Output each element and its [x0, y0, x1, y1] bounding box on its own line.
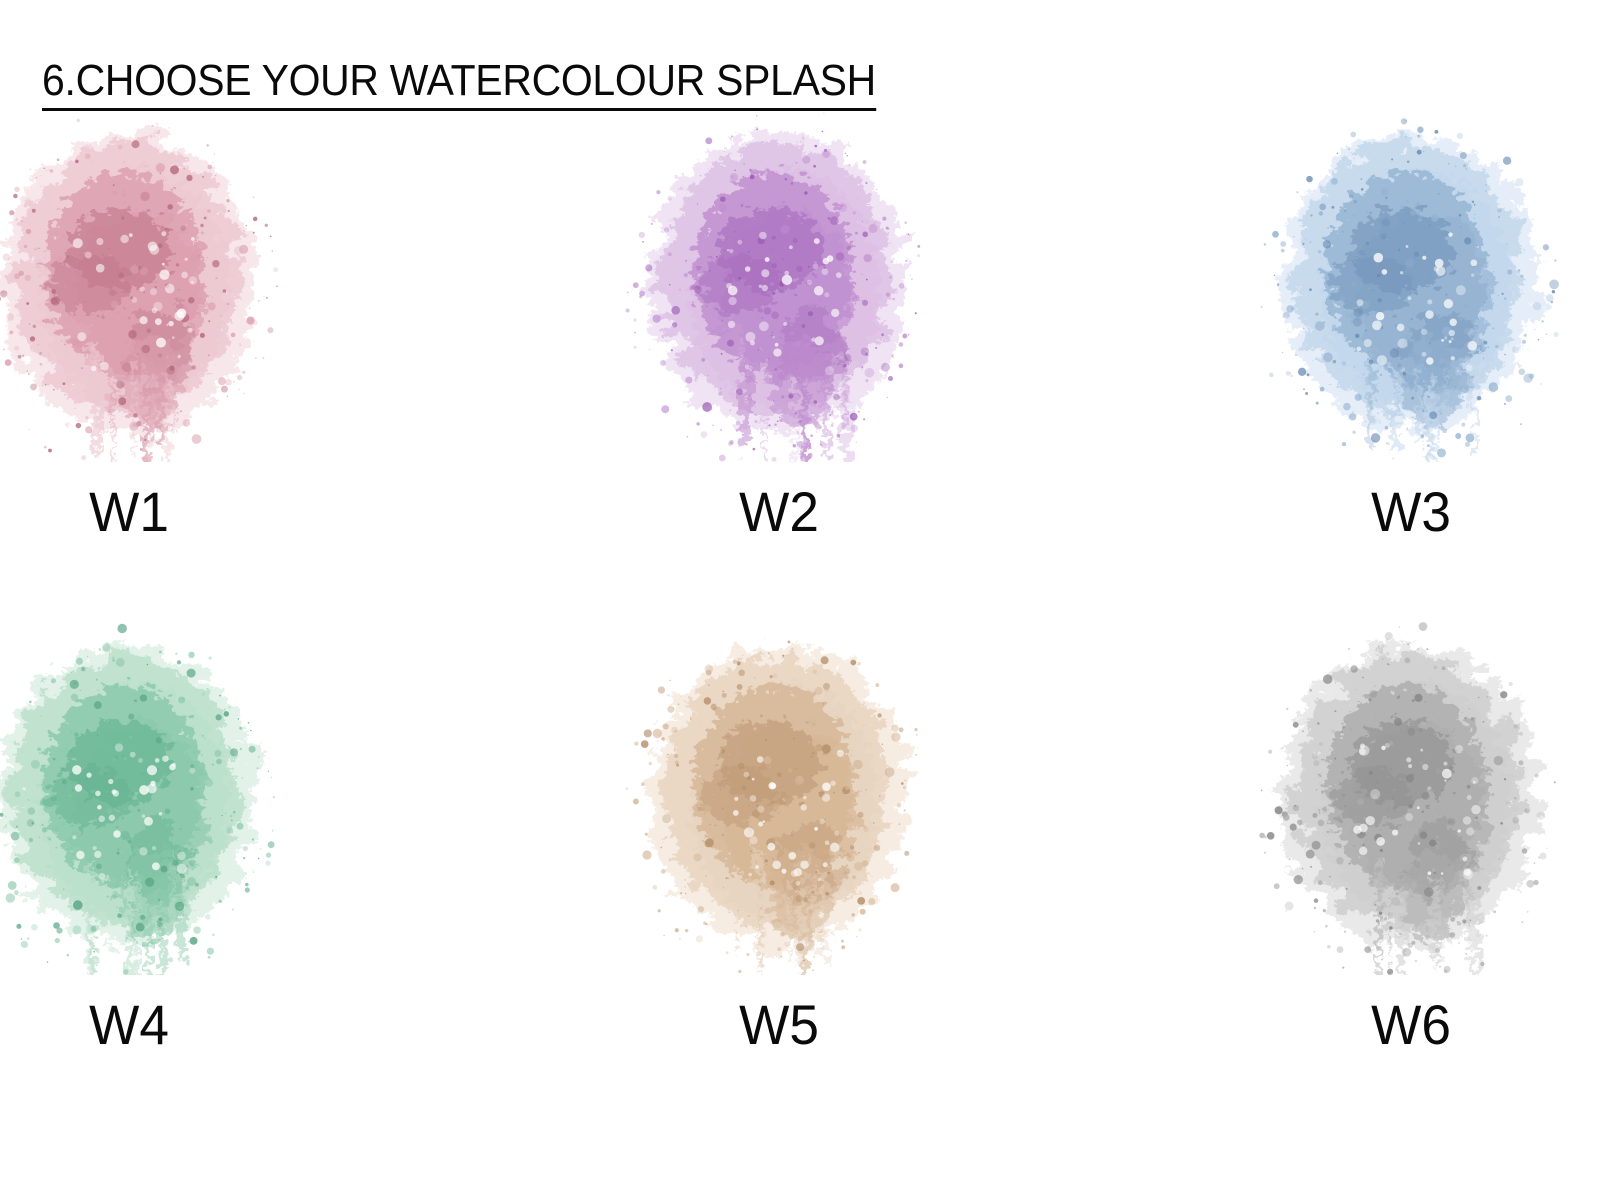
watercolour-splash-w1[interactable]	[0, 102, 294, 462]
watercolour-swatch-grid: W1 W2 W3 W4 W5 W6	[0, 96, 1600, 1106]
swatch-label-w3: W3	[1371, 484, 1451, 540]
swatch-option-w3[interactable]: W3	[1067, 96, 1600, 601]
swatch-label-w1: W1	[89, 484, 169, 540]
watercolour-splash-w4[interactable]	[0, 615, 294, 975]
swatch-option-w1[interactable]: W1	[0, 96, 533, 601]
swatch-option-w6[interactable]: W6	[1067, 601, 1600, 1106]
watercolour-splash-w6[interactable]	[1246, 615, 1576, 975]
swatch-label-w2: W2	[739, 484, 819, 540]
swatch-label-w4: W4	[89, 997, 169, 1053]
swatch-option-w4[interactable]: W4	[0, 601, 533, 1106]
watercolour-splash-w3[interactable]	[1246, 102, 1576, 462]
watercolour-splash-w2[interactable]	[614, 102, 944, 462]
swatch-label-w5: W5	[739, 997, 819, 1053]
swatch-option-w2[interactable]: W2	[533, 96, 1066, 601]
watercolour-splash-w5[interactable]	[614, 615, 944, 975]
swatch-option-w5[interactable]: W5	[533, 601, 1066, 1106]
swatch-label-w6: W6	[1371, 997, 1451, 1053]
